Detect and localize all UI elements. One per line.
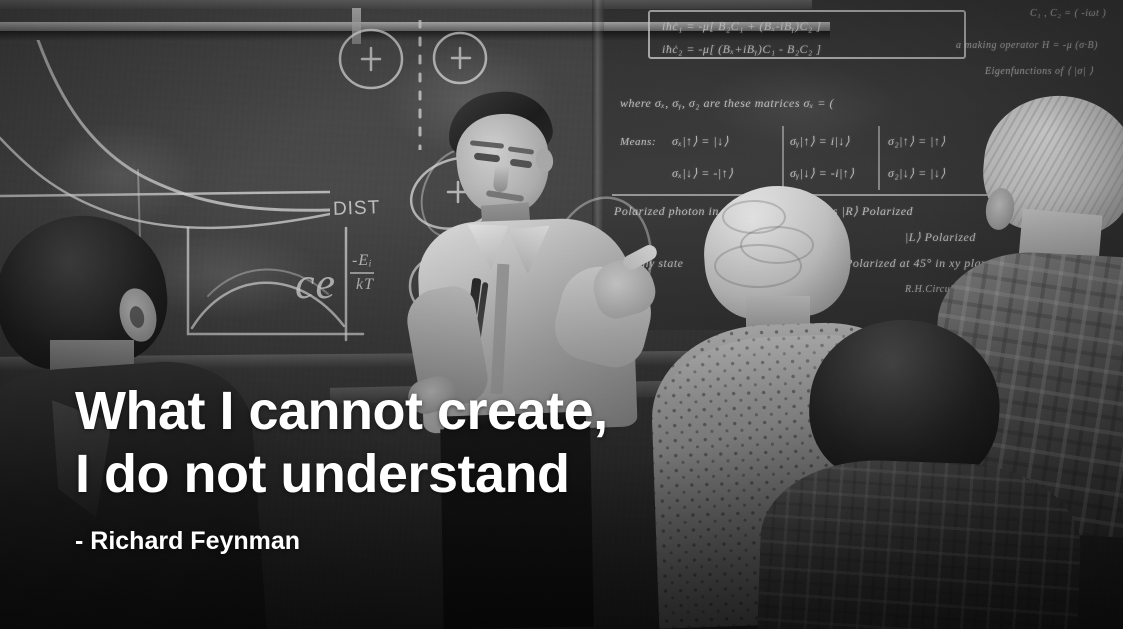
quote-attribution: - Richard Feynman	[75, 526, 608, 556]
quote-poster: DIST ce -Eᵢ kT iħċ₁ = -μ[ B₂C₁ + (Bₓ-iBᵧ…	[0, 0, 1123, 629]
quote-caption: What I cannot create, I do not understan…	[75, 380, 608, 556]
quote-line-2: I do not understand	[75, 443, 608, 506]
quote-line-1: What I cannot create,	[75, 380, 608, 443]
